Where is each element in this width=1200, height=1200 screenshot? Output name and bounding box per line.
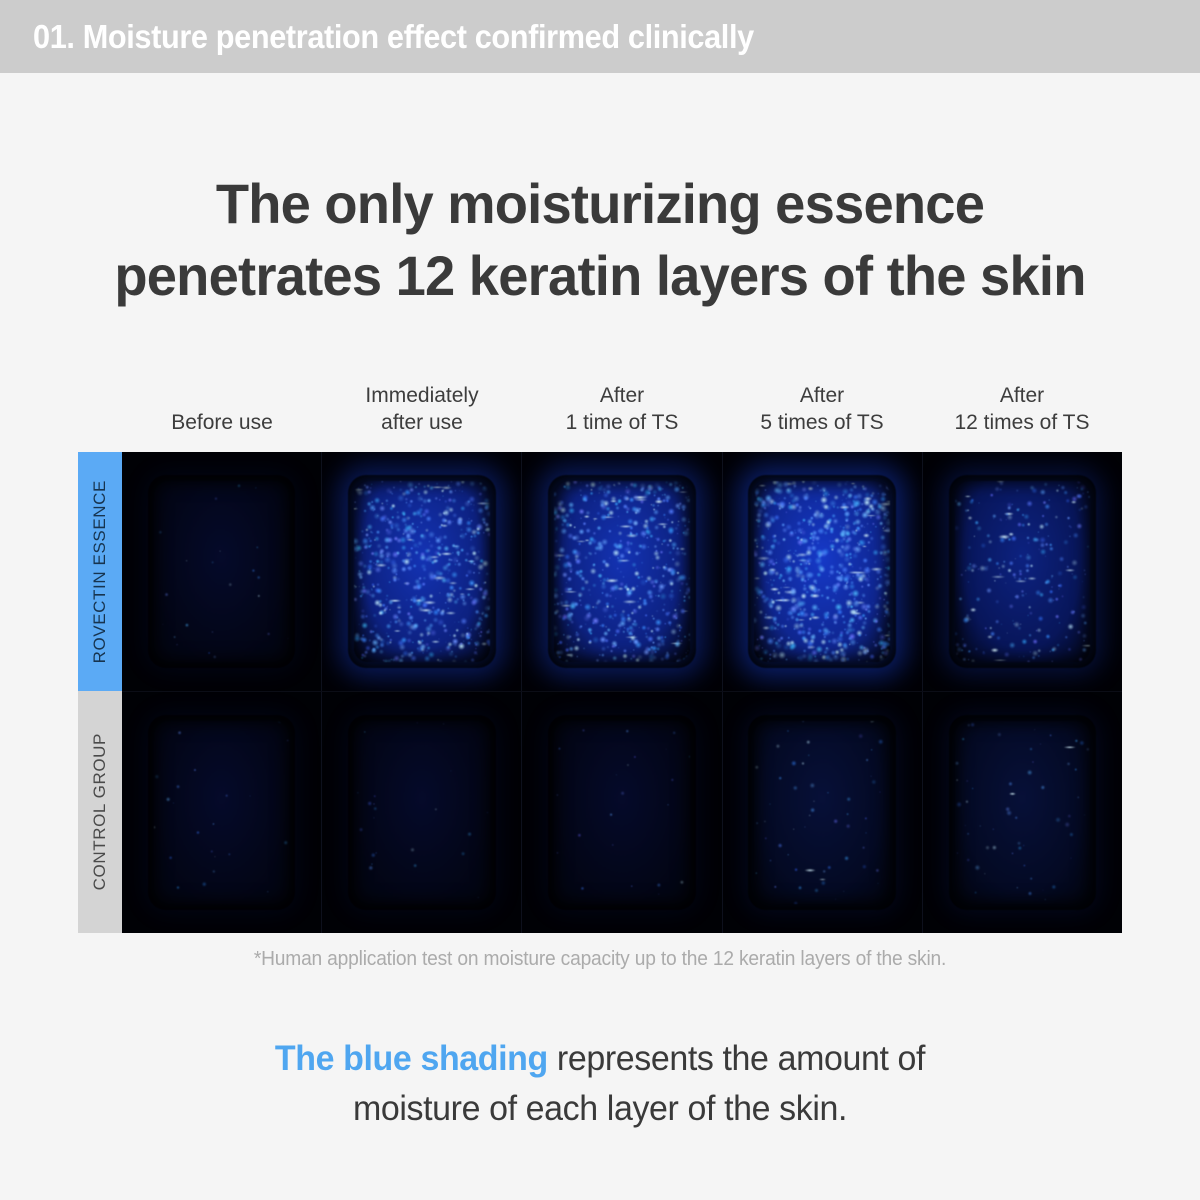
specimen-control-after-12-times xyxy=(955,721,1090,904)
column-header-after-1-time: After 1 time of TS xyxy=(522,376,722,438)
speckle-overlay xyxy=(354,481,489,663)
specimen-essence-immediately-after-use xyxy=(354,481,489,663)
specimen-essence-before-use xyxy=(154,481,289,663)
column-header-after-12-times: After 12 times of TS xyxy=(922,376,1122,438)
panel-essence-after-12-times xyxy=(923,452,1122,691)
row-label-rovectin-essence-text: ROVECTIN ESSENCE xyxy=(90,480,110,663)
column-header-immediately-after-use-line-1: Immediately xyxy=(365,382,478,409)
panel-grid xyxy=(122,452,1122,933)
page-title-line-2: penetrates 12 keratin layers of the skin xyxy=(18,240,1182,312)
panel-essence-after-1-time xyxy=(522,452,722,691)
panel-control-before-use xyxy=(122,692,322,933)
specimen-control-after-5-times xyxy=(754,721,889,904)
column-header-after-5-times-line-2: 5 times of TS xyxy=(760,409,883,436)
column-header-after-12-times-line-2: 12 times of TS xyxy=(954,409,1089,436)
specimen-control-after-1-time xyxy=(554,721,689,904)
speckle-overlay xyxy=(554,721,689,904)
specimen-essence-after-12-times xyxy=(955,481,1090,663)
column-header-before-use-line-2: Before use xyxy=(171,409,273,436)
specimen-essence-after-5-times xyxy=(754,481,889,663)
specimen-control-before-use xyxy=(154,721,289,904)
summary-caption-rest: represents the amount of xyxy=(548,1039,925,1078)
page-title: The only moisturizing essence penetrates… xyxy=(0,168,1200,312)
page-root: 01. Moisture penetration effect confirme… xyxy=(0,0,1200,1200)
speckle-overlay xyxy=(154,721,289,904)
panel-essence-before-use xyxy=(122,452,322,691)
speckle-overlay xyxy=(154,481,289,663)
panel-essence-immediately-after-use xyxy=(322,452,522,691)
panel-control-after-1-time xyxy=(522,692,722,933)
column-header-after-1-time-line-1: After xyxy=(600,382,644,409)
summary-caption-line-1: The blue shading represents the amount o… xyxy=(18,1034,1182,1084)
panel-control-after-5-times xyxy=(723,692,923,933)
specimen-control-immediately-after-use xyxy=(354,721,489,904)
footnote-text: *Human application test on moisture capa… xyxy=(24,948,1176,971)
column-header-immediately-after-use: Immediately after use xyxy=(322,376,522,438)
panel-row-rovectin-essence xyxy=(122,452,1122,691)
panel-control-immediately-after-use xyxy=(322,692,522,933)
column-header-immediately-after-use-line-2: after use xyxy=(381,409,463,436)
column-header-before-use: Before use xyxy=(122,376,322,438)
speckle-overlay xyxy=(754,481,889,663)
row-label-control-group-text: CONTROL GROUP xyxy=(90,733,110,890)
fluorescence-image-grid: ROVECTIN ESSENCE CONTROL GROUP xyxy=(78,452,1122,933)
panel-essence-after-5-times xyxy=(723,452,923,691)
summary-caption: The blue shading represents the amount o… xyxy=(0,1034,1200,1134)
summary-caption-highlight: The blue shading xyxy=(275,1039,548,1078)
speckle-overlay xyxy=(955,721,1090,904)
column-header-after-5-times-line-1: After xyxy=(800,382,844,409)
speckle-overlay xyxy=(955,481,1090,663)
column-header-row: Before use Immediately after use After 1… xyxy=(122,376,1122,438)
speckle-overlay xyxy=(354,721,489,904)
column-header-after-5-times: After 5 times of TS xyxy=(722,376,922,438)
section-header-title: 01. Moisture penetration effect confirme… xyxy=(33,18,754,56)
speckle-overlay xyxy=(554,481,689,663)
panel-control-after-12-times xyxy=(923,692,1122,933)
column-header-after-1-time-line-2: 1 time of TS xyxy=(566,409,679,436)
summary-caption-line-2: moisture of each layer of the skin. xyxy=(18,1084,1182,1134)
specimen-essence-after-1-time xyxy=(554,481,689,663)
row-label-column: ROVECTIN ESSENCE CONTROL GROUP xyxy=(78,452,122,933)
panel-row-control-group xyxy=(122,691,1122,933)
speckle-overlay xyxy=(754,721,889,904)
page-title-line-1: The only moisturizing essence xyxy=(18,168,1182,240)
section-header-bar: 01. Moisture penetration effect confirme… xyxy=(0,0,1200,73)
row-label-control-group: CONTROL GROUP xyxy=(78,691,122,933)
column-header-after-12-times-line-1: After xyxy=(1000,382,1044,409)
row-label-rovectin-essence: ROVECTIN ESSENCE xyxy=(78,452,122,691)
